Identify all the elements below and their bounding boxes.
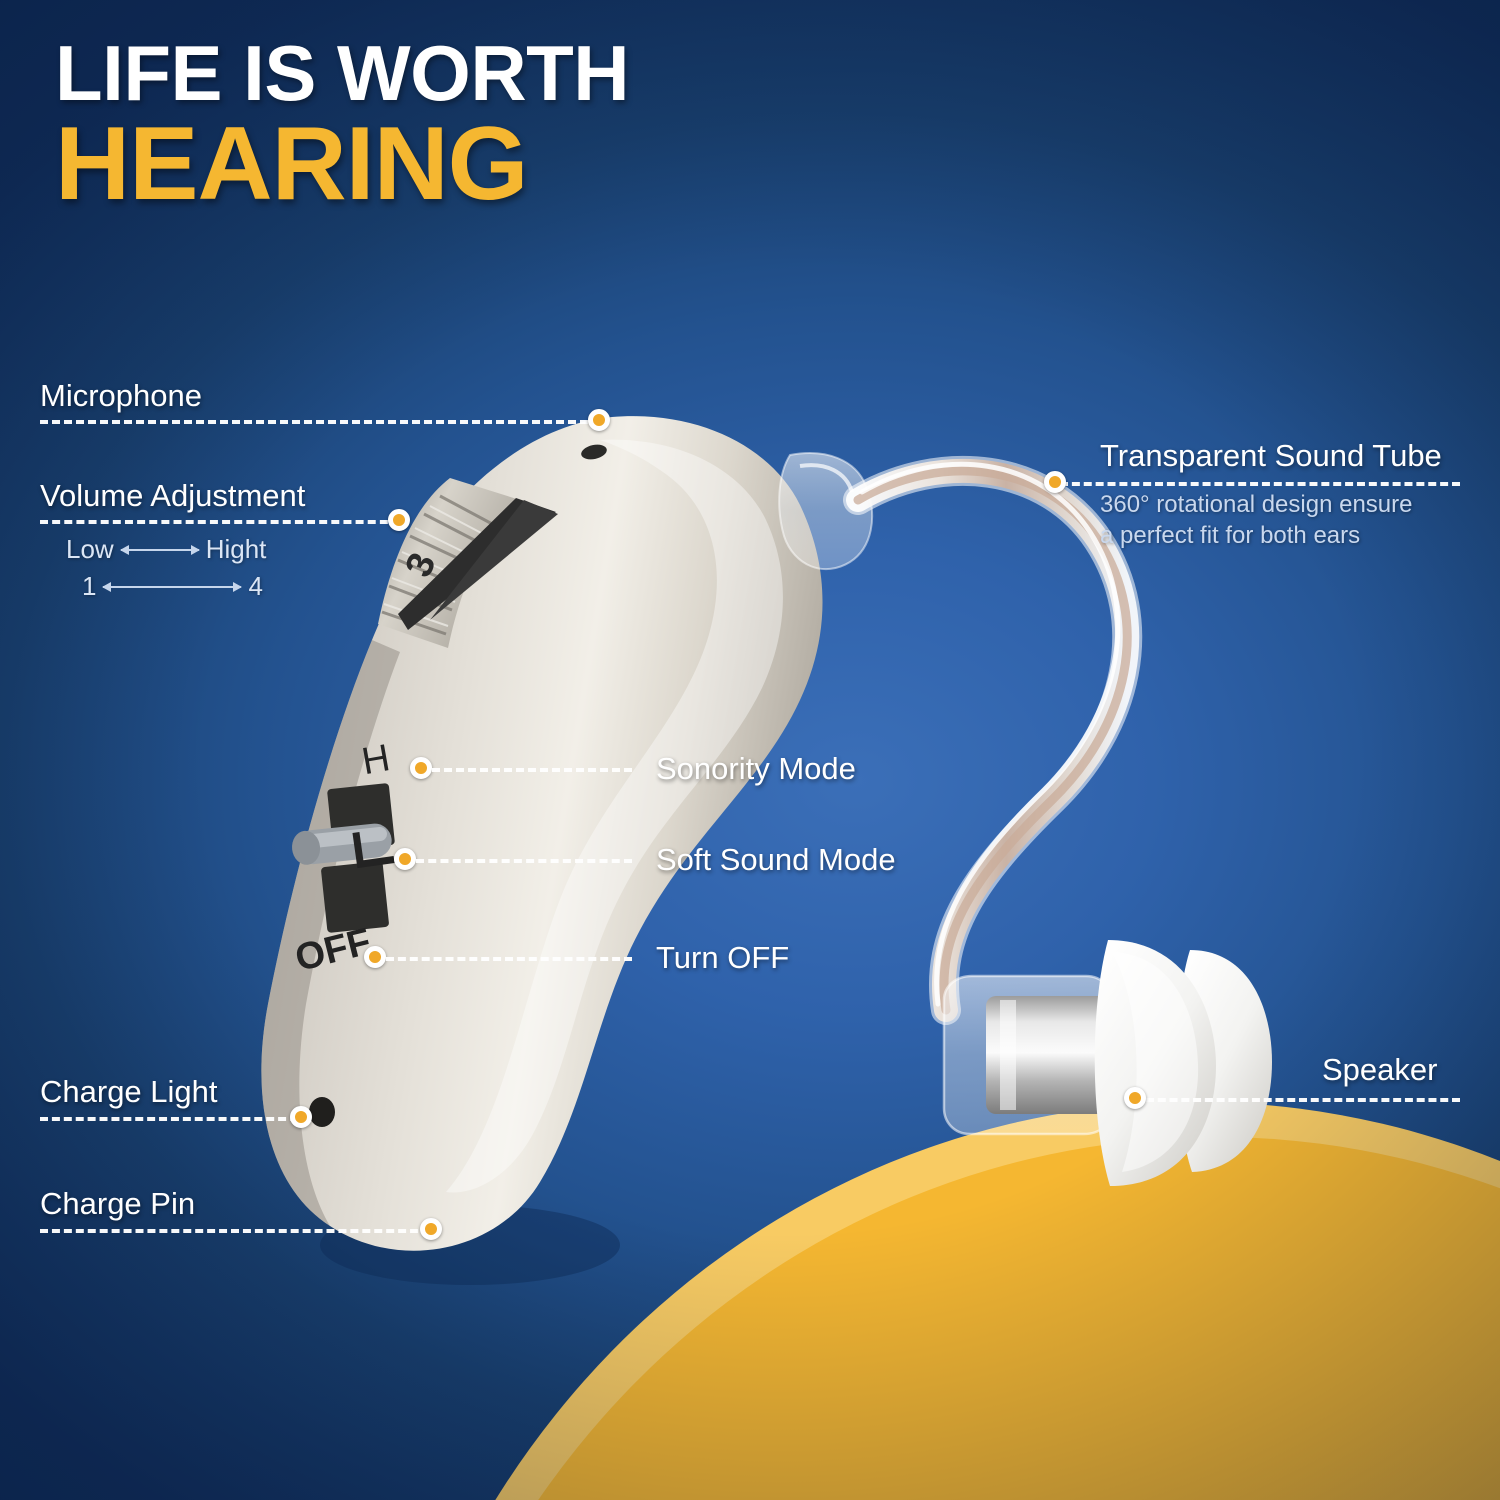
volume-scale: Low Hight 1 4 xyxy=(66,534,266,602)
callout-microphone-label: Microphone xyxy=(40,378,202,414)
leader-line-sound-tube xyxy=(1060,482,1460,486)
volume-arrow-numbers xyxy=(103,586,241,588)
callout-sound-tube: Transparent Sound Tube xyxy=(1100,438,1442,474)
leader-dot-turn-off xyxy=(364,946,386,968)
callout-sonority-label: Sonority Mode xyxy=(656,751,856,787)
callout-volume-label: Volume Adjustment xyxy=(40,478,305,514)
callout-sound-tube-sub2: a perfect fit for both ears xyxy=(1100,521,1412,552)
leader-dot-sound-tube xyxy=(1044,471,1066,493)
callout-soft-sound-label: Soft Sound Mode xyxy=(656,842,896,878)
leader-line-microphone xyxy=(40,420,600,424)
leader-dot-charge-pin xyxy=(420,1218,442,1240)
callout-charge-pin: Charge Pin xyxy=(40,1186,195,1222)
callout-soft-sound: Soft Sound Mode xyxy=(656,842,896,878)
leader-dot-sonority xyxy=(410,757,432,779)
callout-charge-light: Charge Light xyxy=(40,1074,218,1110)
volume-scale-row-numbers: 1 4 xyxy=(66,571,266,602)
callout-sonority: Sonority Mode xyxy=(656,751,856,787)
leader-dot-microphone xyxy=(588,409,610,431)
headline-block: LIFE IS WORTH HEARING xyxy=(55,36,629,215)
volume-scale-max: 4 xyxy=(248,571,262,602)
leader-line-speaker xyxy=(1146,1098,1460,1102)
infographic-canvas: 3 H OFF xyxy=(0,0,1500,1500)
leader-dot-speaker xyxy=(1124,1087,1146,1109)
callout-turn-off: Turn OFF xyxy=(656,940,789,976)
callout-volume: Volume Adjustment xyxy=(40,478,305,514)
callout-sound-tube-sub1: 360° rotational design ensure xyxy=(1100,490,1412,521)
callout-speaker: Speaker xyxy=(1322,1052,1437,1088)
sound-tube xyxy=(858,464,1127,1010)
leader-line-turn-off xyxy=(386,957,632,961)
leader-line-charge-light xyxy=(40,1117,298,1121)
headline-line-2: HEARING xyxy=(55,115,629,215)
leader-dot-soft-sound xyxy=(394,848,416,870)
leader-line-sonority xyxy=(432,768,632,772)
leader-dot-charge-light xyxy=(290,1106,312,1128)
callout-turn-off-label: Turn OFF xyxy=(656,940,789,976)
volume-scale-row-words: Low Hight xyxy=(66,534,266,565)
callout-charge-light-label: Charge Light xyxy=(40,1074,218,1110)
leader-line-volume xyxy=(40,520,400,524)
volume-scale-high: Hight xyxy=(206,534,267,565)
hearing-aid-illustration: 3 H OFF xyxy=(0,0,1500,1500)
volume-scale-low: Low xyxy=(66,534,114,565)
callout-speaker-label: Speaker xyxy=(1322,1052,1437,1088)
leader-line-soft-sound xyxy=(416,859,632,863)
callout-sound-tube-sub: 360° rotational design ensure a perfect … xyxy=(1100,490,1412,551)
leader-line-charge-pin xyxy=(40,1229,430,1233)
charge-light-port xyxy=(309,1097,335,1127)
earpiece-assembly xyxy=(944,940,1272,1186)
volume-scale-min: 1 xyxy=(82,571,96,602)
headline-line-1: LIFE IS WORTH xyxy=(55,36,629,111)
leader-dot-volume xyxy=(388,509,410,531)
callout-microphone: Microphone xyxy=(40,378,202,414)
volume-arrow-words xyxy=(121,549,199,551)
callout-sound-tube-label: Transparent Sound Tube xyxy=(1100,438,1442,474)
callout-charge-pin-label: Charge Pin xyxy=(40,1186,195,1222)
